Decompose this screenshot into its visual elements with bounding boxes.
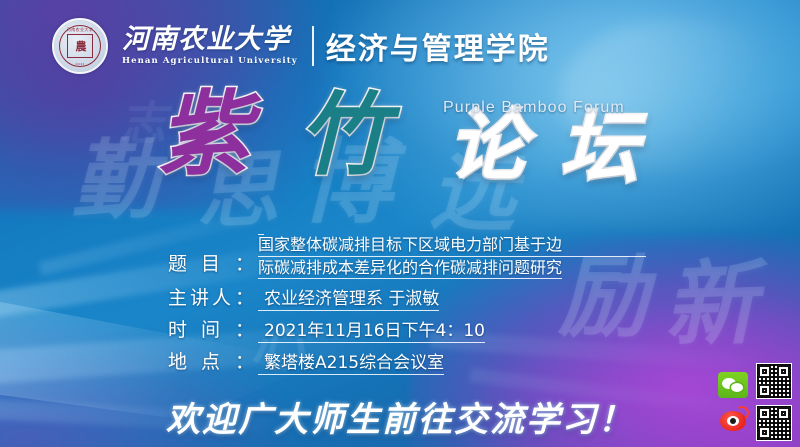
watermark-char-xin: 新 (662, 256, 757, 351)
info-value-topic-line1: 国家整体碳减排目标下区域电力部门基于边 (258, 234, 646, 257)
info-row-speaker: 主 讲 人 ： 农业经济管理系 于淑敏 (168, 283, 646, 310)
info-row-location: 地 点 ： 繁塔楼A215综合会议室 (168, 347, 646, 374)
university-name-en: Henan Agricultural University (122, 56, 298, 66)
title-char-zhu: 竹 (298, 90, 388, 180)
label-char: 时 (168, 315, 187, 342)
welcome-message: 欢迎广大师生前往交流学习！ (166, 392, 634, 441)
info-label-location: 地 点 ： (168, 347, 254, 374)
seal-arc-bottom-text: ••••• (75, 61, 84, 66)
university-name-cn: 河南农业大学 (122, 26, 298, 54)
seal-center-glyph: 農 (67, 34, 93, 58)
forum-title: 紫 竹 论 坛 Purple Bamboo Forum (158, 86, 658, 194)
label-colon: ： (235, 315, 254, 342)
info-value-wrap-topic: 国家整体碳减排目标下区域电力部门基于边 际碳减排成本差异化的合作碳减排问题研究 (258, 213, 646, 278)
info-row-time: 时 间 ： 2021年11月16日下午4：10 (168, 315, 646, 342)
info-value-wrap-location: 繁塔楼A215综合会议室 (258, 352, 646, 374)
label-char: 点 (201, 347, 220, 374)
title-char-lun: 论 (448, 108, 526, 186)
wechat-qr-code[interactable] (756, 363, 792, 399)
info-row-topic: 题 目 ： 国家整体碳减排目标下区域电力部门基于边 际碳减排成本差异化的合作碳减… (168, 213, 646, 278)
header-divider (312, 26, 314, 66)
watermark-char-qin: 勤 (72, 138, 158, 224)
info-label-speaker: 主 讲 人 ： (168, 283, 254, 310)
label-char: 主 (168, 283, 187, 310)
poster-canvas: 志 勤 思 博 远 励 新 心 河南农业大学 農 ••••• 河南农业大学 He… (0, 0, 800, 447)
label-colon: ： (235, 347, 254, 374)
weibo-qr-code[interactable] (756, 405, 792, 441)
label-char: 题 (168, 249, 187, 276)
header: 河南农业大学 農 ••••• 河南农业大学 Henan Agricultural… (52, 17, 550, 75)
info-label-time: 时 间 ： (168, 315, 254, 342)
weibo-icon[interactable] (718, 406, 748, 432)
label-char: 讲 (190, 283, 209, 310)
info-value-speaker: 农业经济管理系 于淑敏 (258, 289, 439, 311)
info-value-wrap-time: 2021年11月16日下午4：10 (258, 320, 646, 342)
social-icon-column (718, 372, 748, 432)
weibo-pupil (730, 418, 736, 424)
qr-code-column (756, 363, 792, 441)
info-value-wrap-speaker: 农业经济管理系 于淑敏 (258, 288, 646, 310)
forum-title-english: Purple Bamboo Forum (443, 99, 625, 117)
title-char-tan: 坛 (560, 110, 638, 188)
info-value-location: 繁塔楼A215综合会议室 (258, 353, 444, 375)
info-label-topic: 题 目 ： (168, 249, 254, 278)
university-name-block: 河南农业大学 Henan Agricultural University (122, 26, 298, 66)
info-value-topic: 国家整体碳减排目标下区域电力部门基于边 际碳减排成本差异化的合作碳减排问题研究 (258, 214, 646, 279)
label-char: 目 (201, 249, 220, 276)
university-seal-icon: 河南农业大学 農 ••••• (52, 18, 108, 74)
label-char: 人 (212, 283, 231, 310)
label-colon: ： (235, 283, 254, 310)
college-name: 经济与管理学院 (326, 24, 550, 68)
seal-arc-top-text: 河南农业大学 (67, 27, 93, 33)
wechat-icon[interactable] (718, 372, 748, 398)
title-char-zi: 紫 (158, 88, 250, 180)
info-value-time: 2021年11月16日下午4：10 (258, 321, 485, 343)
info-value-topic-line2: 际碳减排成本差异化的合作碳减排问题研究 (258, 258, 562, 277)
label-char: 地 (168, 347, 187, 374)
event-info-block: 题 目 ： 国家整体碳减排目标下区域电力部门基于边 际碳减排成本差异化的合作碳减… (168, 213, 646, 379)
label-colon: ： (235, 249, 254, 276)
social-qr-block (718, 363, 792, 441)
label-char: 间 (201, 315, 220, 342)
